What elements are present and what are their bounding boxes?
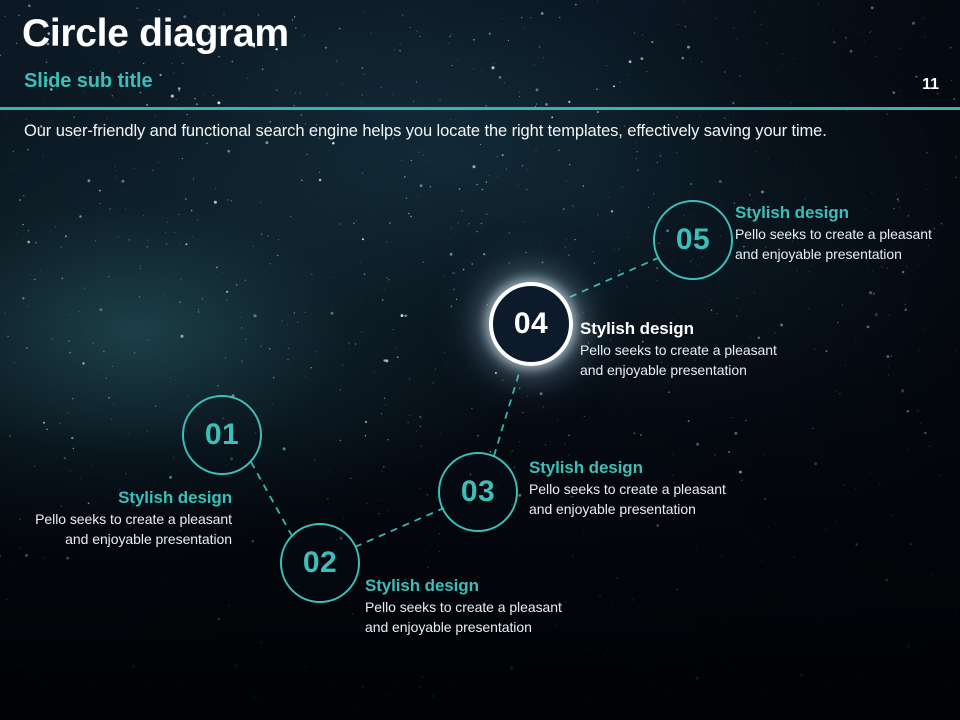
- diagram-node-03[interactable]: 03: [438, 452, 518, 532]
- node-text-03[interactable]: Stylish design Pello seeks to create a p…: [529, 458, 729, 519]
- slide-canvas: Circle diagram Slide sub title 11 Our us…: [0, 0, 960, 720]
- node-heading-05: Stylish design: [735, 203, 935, 223]
- diagram-node-01[interactable]: 01: [182, 395, 262, 475]
- node-text-02[interactable]: Stylish design Pello seeks to create a p…: [365, 576, 565, 637]
- node-number-04: 04: [514, 307, 548, 341]
- intro-paragraph: Our user-friendly and functional search …: [24, 120, 914, 143]
- node-body-04: Pello seeks to create a pleasant and enj…: [580, 341, 780, 380]
- header-divider: [0, 107, 960, 110]
- node-number-05: 05: [676, 223, 710, 257]
- diagram-node-02[interactable]: 02: [280, 523, 360, 603]
- node-heading-03: Stylish design: [529, 458, 729, 478]
- node-body-03: Pello seeks to create a pleasant and enj…: [529, 480, 729, 519]
- page-number: 11: [922, 76, 939, 94]
- node-body-05: Pello seeks to create a pleasant and enj…: [735, 225, 935, 264]
- page-subtitle: Slide sub title: [24, 70, 153, 93]
- diagram-node-05[interactable]: 05: [653, 200, 733, 280]
- slide-header: Circle diagram Slide sub title 11: [0, 0, 960, 112]
- node-body-01: Pello seeks to create a pleasant and enj…: [20, 510, 232, 549]
- node-number-01: 01: [205, 418, 239, 452]
- node-text-04[interactable]: Stylish design Pello seeks to create a p…: [580, 319, 780, 380]
- node-number-03: 03: [461, 475, 495, 509]
- node-text-05[interactable]: Stylish design Pello seeks to create a p…: [735, 203, 935, 264]
- node-body-02: Pello seeks to create a pleasant and enj…: [365, 598, 565, 637]
- node-number-02: 02: [303, 546, 337, 580]
- page-title: Circle diagram: [22, 14, 289, 55]
- node-heading-01: Stylish design: [20, 488, 232, 508]
- node-heading-04: Stylish design: [580, 319, 780, 339]
- diagram-node-04[interactable]: 04: [489, 282, 573, 366]
- node-text-01[interactable]: Stylish design Pello seeks to create a p…: [20, 488, 232, 549]
- node-heading-02: Stylish design: [365, 576, 565, 596]
